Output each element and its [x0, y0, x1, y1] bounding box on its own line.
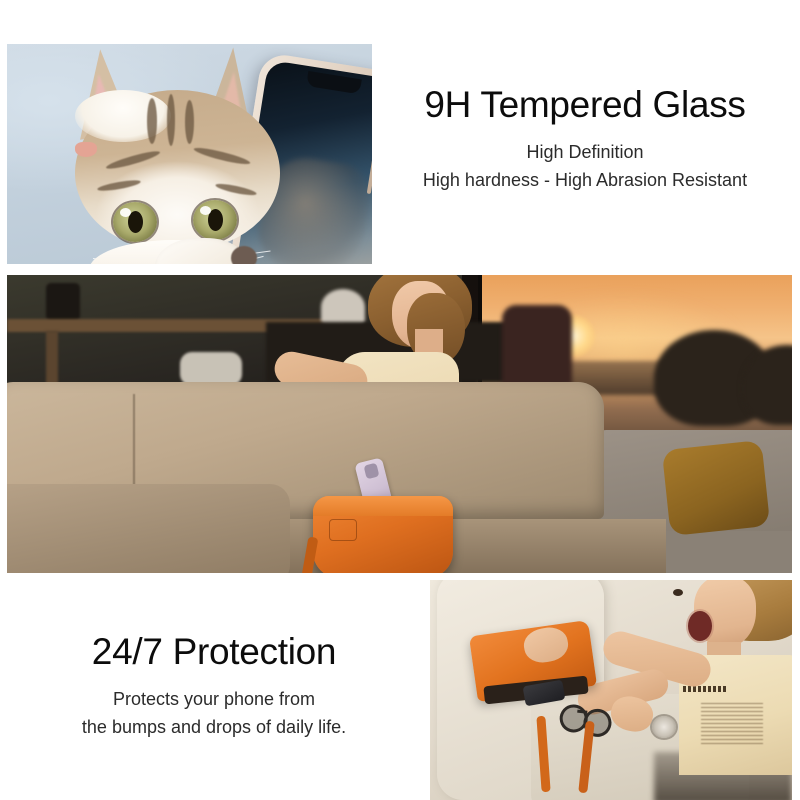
brown-pillow [662, 440, 770, 536]
phone-notch [306, 71, 362, 94]
cat-nose [75, 142, 97, 157]
photo-cat-with-phone [7, 44, 372, 264]
protection-headline: 24/7 Protection [8, 633, 420, 672]
tank-top-print [701, 703, 763, 747]
handbag-brand-tag [329, 519, 357, 541]
protection-subline-1: Protects your phone from [8, 686, 420, 714]
cat-left-eye [113, 202, 157, 242]
tank-top-brand-text [683, 686, 727, 692]
table-lamp [321, 289, 365, 325]
cat-right-eye-glint [200, 206, 211, 215]
cat-forehead-stripe [167, 94, 175, 146]
cat-cheek-stripe [97, 178, 142, 193]
cat-left-eye-glint [120, 208, 131, 217]
shelf-leg [46, 331, 58, 389]
cat-forehead-stripe [147, 98, 157, 144]
cat-head [75, 90, 280, 250]
couch-armrest [7, 484, 290, 573]
glass-feature-text-block: 9H Tempered Glass High Definition High h… [378, 86, 792, 195]
protection-feature-text-block: 24/7 Protection Protects your phone from… [8, 633, 420, 742]
cat-forehead-stripe [185, 100, 194, 144]
protection-subline-2: the bumps and drops of daily life. [8, 714, 420, 742]
shelf-jar-object [46, 283, 80, 321]
cat-paw-pad [231, 246, 257, 264]
cat-right-eye [193, 200, 237, 240]
cat-cheek-stripe [193, 145, 251, 167]
cat-cheek-stripe [215, 182, 258, 198]
product-feature-banner: 9H Tempered Glass High Definition High h… [0, 0, 800, 800]
glass-subline-1: High Definition [378, 139, 792, 167]
photo-bag-spilling [430, 580, 792, 800]
cat-cheek-stripe [105, 148, 161, 171]
glass-subline-2: High hardness - High Abrasion Resistant [378, 167, 792, 195]
handbag-top-flap [313, 496, 453, 516]
photo-woman-storing-phone [7, 275, 792, 573]
glass-headline: 9H Tempered Glass [378, 86, 792, 125]
kitten [59, 50, 309, 264]
dining-chair [502, 305, 572, 385]
